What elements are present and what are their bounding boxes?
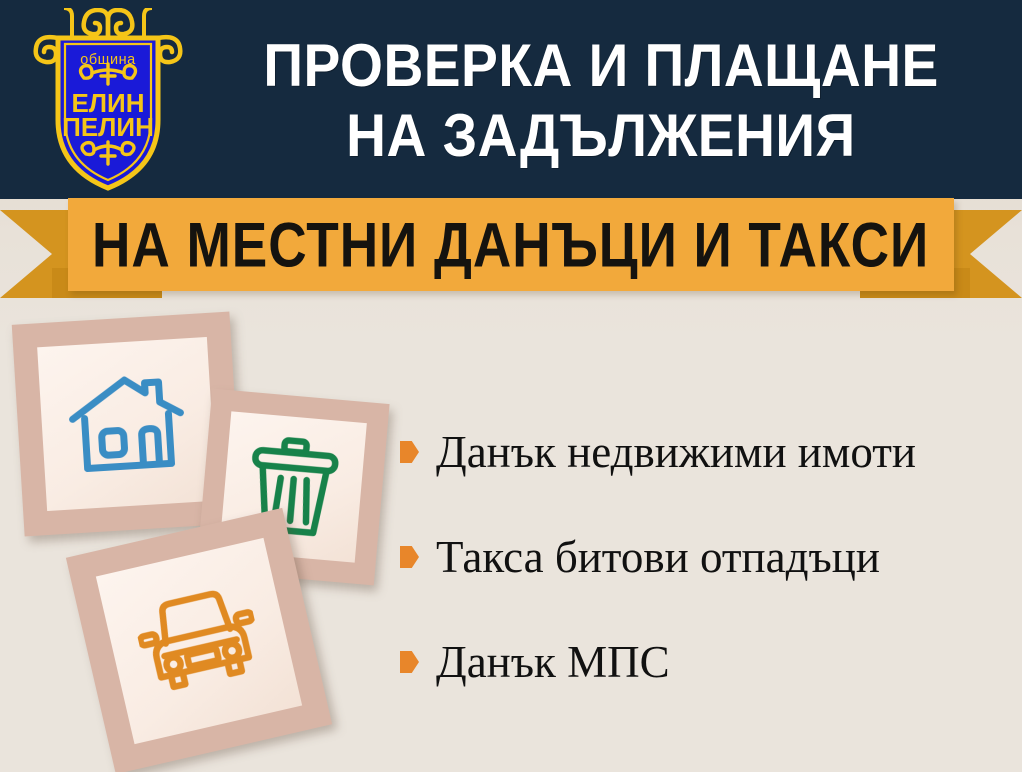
coat-of-arms-shield-icon: община ЕЛИН ПЕЛИН — [22, 8, 194, 194]
stamp-paper — [37, 337, 217, 511]
house-icon — [66, 369, 188, 480]
header-title-line-1: ПРОВЕРКА И ПЛАЩАНЕ — [263, 31, 938, 101]
subtitle-ribbon: НА МЕСТНИ ДАНЪЦИ И ТАКСИ — [0, 196, 1022, 306]
crest-line-2: ПЕЛИН — [62, 112, 154, 142]
arrow-bullet-icon — [400, 546, 419, 568]
stamp-collage — [0, 300, 400, 772]
poster-canvas: община ЕЛИН ПЕЛИН ПРОВЕРКА И ПЛАЩАНЕ НА … — [0, 0, 1022, 772]
car-front-icon — [130, 580, 267, 702]
list-item-label: Такса битови отпадъци — [436, 535, 880, 580]
ribbon-text: НА МЕСТНИ ДАНЪЦИ И ТАКСИ — [92, 213, 929, 276]
header-title: ПРОВЕРКА И ПЛАЩАНЕ НА ЗАДЪЛЖЕНИЯ — [196, 16, 1006, 186]
list-item[interactable]: Данък МПС — [400, 634, 1010, 690]
list-item[interactable]: Такса битови отпадъци — [400, 529, 1010, 585]
municipality-crest: община ЕЛИН ПЕЛИН — [22, 8, 194, 194]
list-item-label: Данък МПС — [436, 640, 670, 685]
header-title-line-2: НА ЗАДЪЛЖЕНИЯ — [346, 101, 856, 171]
list-item[interactable]: Данък недвижими имоти — [400, 424, 1010, 480]
arrow-bullet-icon — [400, 441, 419, 463]
list-item-label: Данък недвижими имоти — [436, 430, 916, 475]
ribbon-band: НА МЕСТНИ ДАНЪЦИ И ТАКСИ — [68, 198, 954, 291]
tax-list: Данък недвижими имоти Такса битови отпад… — [400, 424, 1010, 690]
arrow-bullet-icon — [400, 651, 419, 673]
